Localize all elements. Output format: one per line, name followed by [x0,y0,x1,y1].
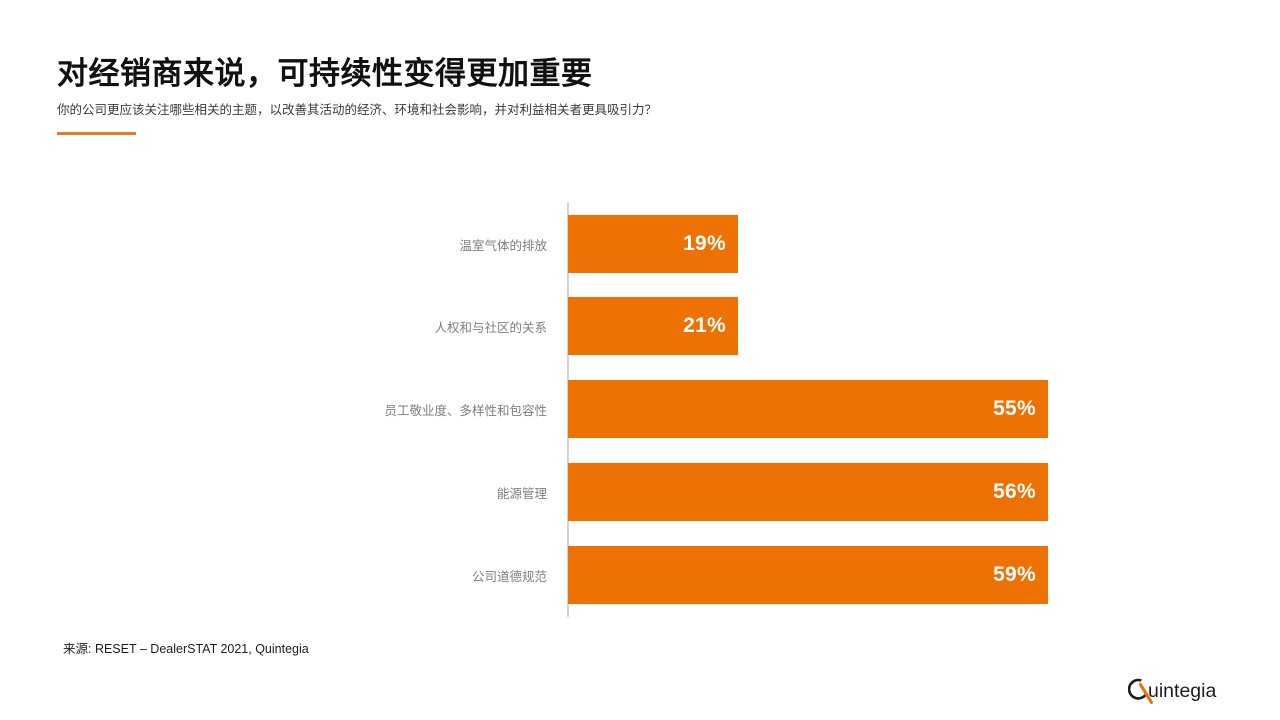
bar-value-label: 59% [993,563,1036,587]
page-title: 对经销商来说，可持续性变得更加重要 [57,55,1227,92]
bar-value-label: 21% [683,314,726,338]
bar-value-label: 56% [993,480,1036,504]
bar-rows: 温室气体的排放19%人权和与社区的关系21%员工敬业度、多样性和包容性55%能源… [0,195,1280,625]
bar-row: 员工敬业度、多样性和包容性55% [0,380,1280,438]
bar-chart: 温室气体的排放19%人权和与社区的关系21%员工敬业度、多样性和包容性55%能源… [0,195,1280,625]
bar-track: 55% [568,380,1048,438]
bar-value-label: 55% [993,397,1036,421]
quintegia-logo-mark: uintegia [1128,672,1240,706]
bar-category-label: 能源管理 [127,483,547,502]
bar-row: 公司道德规范59% [0,546,1280,604]
bar-fill: 21% [568,297,738,355]
bar-value-label: 19% [683,232,726,256]
quintegia-logo: uintegia [1128,672,1240,706]
quintegia-logo-text: uintegia [1148,680,1216,702]
source-note: 来源: RESET – DealerSTAT 2021, Quintegia [63,638,309,657]
page-subtitle: 你的公司更应该关注哪些相关的主题，以改善其活动的经济、环境和社会影响，并对利益相… [57,102,1227,118]
slide-header: 对经销商来说，可持续性变得更加重要 你的公司更应该关注哪些相关的主题，以改善其活… [57,55,1227,135]
bar-category-label: 温室气体的排放 [127,235,547,254]
bar-fill: 59% [568,546,1048,604]
accent-underline [57,132,136,135]
bar-category-label: 公司道德规范 [127,566,547,585]
bar-track: 19% [568,215,738,273]
bar-fill: 56% [568,463,1048,521]
bar-fill: 19% [568,215,738,273]
bar-track: 59% [568,546,1048,604]
slide-root: { "header": { "title": "对经销商来说，可持续性变得更加重… [0,0,1280,720]
bar-track: 21% [568,297,738,355]
bar-fill: 55% [568,380,1048,438]
bar-row: 温室气体的排放19% [0,215,1280,273]
bar-track: 56% [568,463,1048,521]
bar-row: 能源管理56% [0,463,1280,521]
bar-row: 人权和与社区的关系21% [0,297,1280,355]
bar-category-label: 员工敬业度、多样性和包容性 [127,400,547,419]
bar-category-label: 人权和与社区的关系 [127,317,547,336]
